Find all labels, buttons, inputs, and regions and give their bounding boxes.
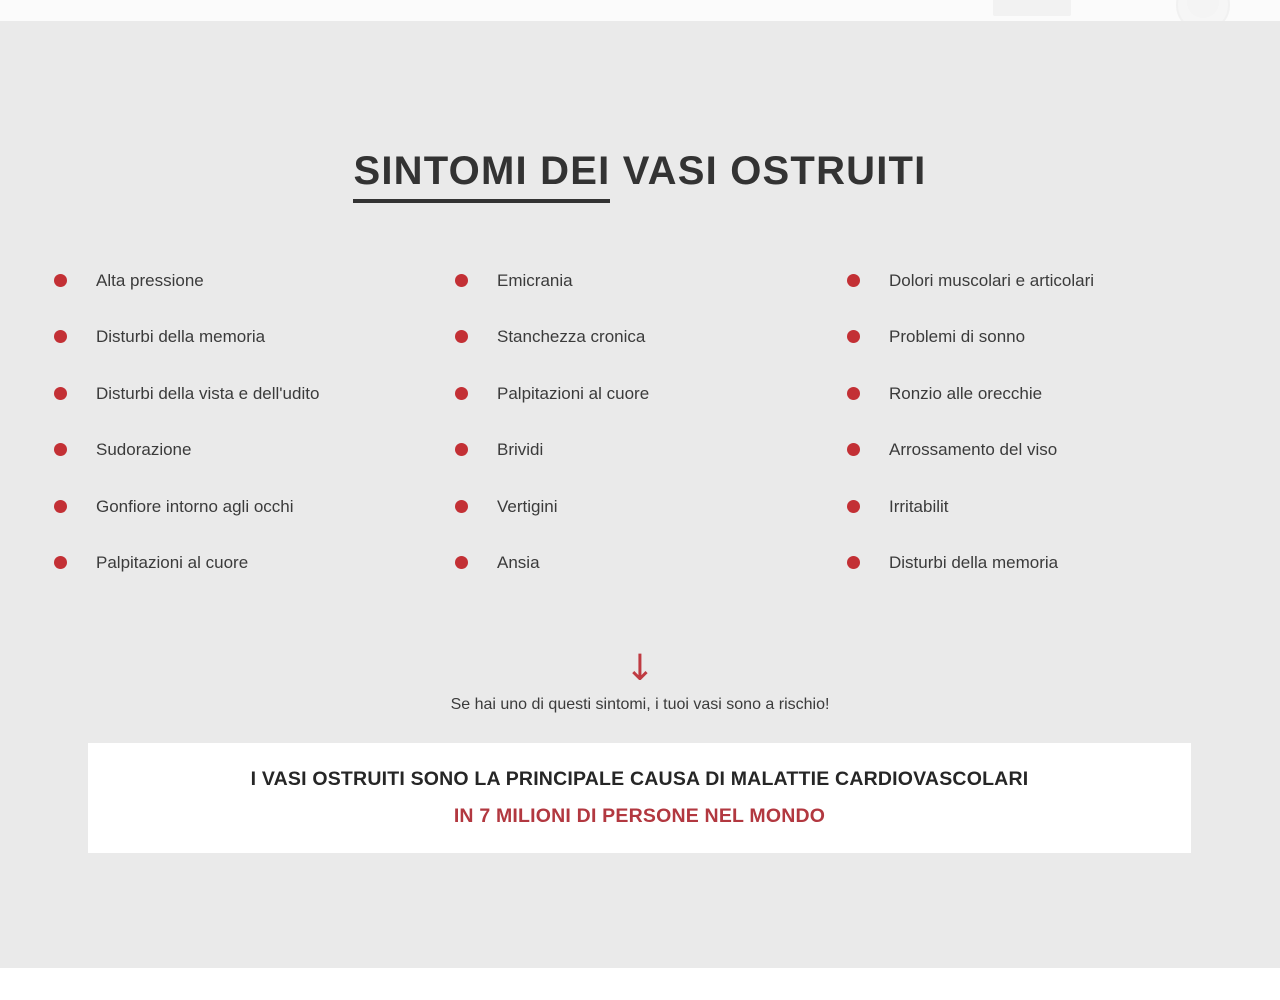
symptoms-column-3: Dolori muscolari e articolari Problemi d…	[792, 252, 1188, 591]
bullet-dot-icon	[455, 500, 468, 513]
bullet-dot-icon	[455, 443, 468, 456]
symptom-label: Irritabilit	[889, 498, 949, 515]
landing-page: SINTOMI DEI VASI OSTRUITI Alta pressione…	[0, 0, 1280, 1000]
bullet-dot-icon	[455, 556, 468, 569]
bullet-dot-icon	[54, 556, 67, 569]
bullet-dot-icon	[847, 556, 860, 569]
bullet-dot-icon	[847, 274, 860, 287]
list-item: Problemi di sonno	[847, 309, 1188, 366]
page-title-underlined: SINTOMI DEI	[353, 149, 610, 203]
symptom-label: Ansia	[497, 554, 540, 571]
list-item: Stanchezza cronica	[455, 309, 792, 366]
list-item: Palpitazioni al cuore	[455, 365, 792, 422]
symptom-label: Sudorazione	[96, 441, 191, 458]
list-item: Emicrania	[455, 252, 792, 309]
bullet-dot-icon	[54, 274, 67, 287]
symptom-label: Problemi di sonno	[889, 328, 1025, 345]
symptom-label: Arrossamento del viso	[889, 441, 1057, 458]
list-item: Brividi	[455, 422, 792, 479]
list-item: Disturbi della memoria	[54, 309, 396, 366]
bullet-dot-icon	[54, 500, 67, 513]
list-item: Irritabilit	[847, 478, 1188, 535]
bullet-dot-icon	[455, 387, 468, 400]
callout-subline: IN 7 MILIONI DI PERSONE NEL MONDO	[454, 805, 825, 828]
callout-headline: I VASI OSTRUITI SONO LA PRINCIPALE CAUSA…	[251, 768, 1029, 791]
symptom-label: Palpitazioni al cuore	[96, 554, 248, 571]
list-item: Alta pressione	[54, 252, 396, 309]
symptoms-column-1: Alta pressione Disturbi della memoria Di…	[0, 252, 396, 591]
bullet-dot-icon	[455, 330, 468, 343]
down-arrow-icon: ↓	[0, 649, 1280, 689]
symptom-label: Emicrania	[497, 272, 573, 289]
bullet-dot-icon	[847, 387, 860, 400]
partial-logo-placeholder	[993, 0, 1071, 16]
statistic-callout: I VASI OSTRUITI SONO LA PRINCIPALE CAUSA…	[88, 743, 1191, 853]
list-item: Gonfiore intorno agli occhi	[54, 478, 396, 535]
bullet-dot-icon	[54, 330, 67, 343]
bullet-dot-icon	[847, 443, 860, 456]
symptom-label: Disturbi della memoria	[889, 554, 1058, 571]
symptoms-section: SINTOMI DEI VASI OSTRUITI Alta pressione…	[0, 21, 1280, 968]
symptom-label: Brividi	[497, 441, 543, 458]
symptom-label: Disturbi della vista e dell'udito	[96, 385, 319, 402]
symptom-label: Dolori muscolari e articolari	[889, 272, 1094, 289]
symptom-label: Palpitazioni al cuore	[497, 385, 649, 402]
bullet-dot-icon	[54, 443, 67, 456]
list-item: Arrossamento del viso	[847, 422, 1188, 479]
symptom-label: Stanchezza cronica	[497, 328, 645, 345]
warning-text: Se hai uno di questi sintomi, i tuoi vas…	[0, 696, 1280, 714]
page-title-plain: VASI OSTRUITI	[610, 149, 926, 193]
list-item: Ronzio alle orecchie	[847, 365, 1188, 422]
list-item: Disturbi della memoria	[847, 535, 1188, 592]
symptom-label: Vertigini	[497, 498, 557, 515]
symptom-label: Alta pressione	[96, 272, 204, 289]
list-item: Palpitazioni al cuore	[54, 535, 396, 592]
bullet-dot-icon	[847, 500, 860, 513]
symptom-label: Disturbi della memoria	[96, 328, 265, 345]
symptom-label: Gonfiore intorno agli occhi	[96, 498, 294, 515]
list-item: Sudorazione	[54, 422, 396, 479]
bullet-dot-icon	[455, 274, 468, 287]
list-item: Ansia	[455, 535, 792, 592]
page-title: SINTOMI DEI VASI OSTRUITI	[0, 149, 1280, 194]
symptoms-column-2: Emicrania Stanchezza cronica Palpitazion…	[396, 252, 792, 591]
symptom-label: Ronzio alle orecchie	[889, 385, 1042, 402]
list-item: Disturbi della vista e dell'udito	[54, 365, 396, 422]
list-item: Dolori muscolari e articolari	[847, 252, 1188, 309]
bullet-dot-icon	[847, 330, 860, 343]
symptoms-columns: Alta pressione Disturbi della memoria Di…	[0, 252, 1280, 591]
bullet-dot-icon	[54, 387, 67, 400]
page-top-strip	[0, 0, 1280, 21]
list-item: Vertigini	[455, 478, 792, 535]
